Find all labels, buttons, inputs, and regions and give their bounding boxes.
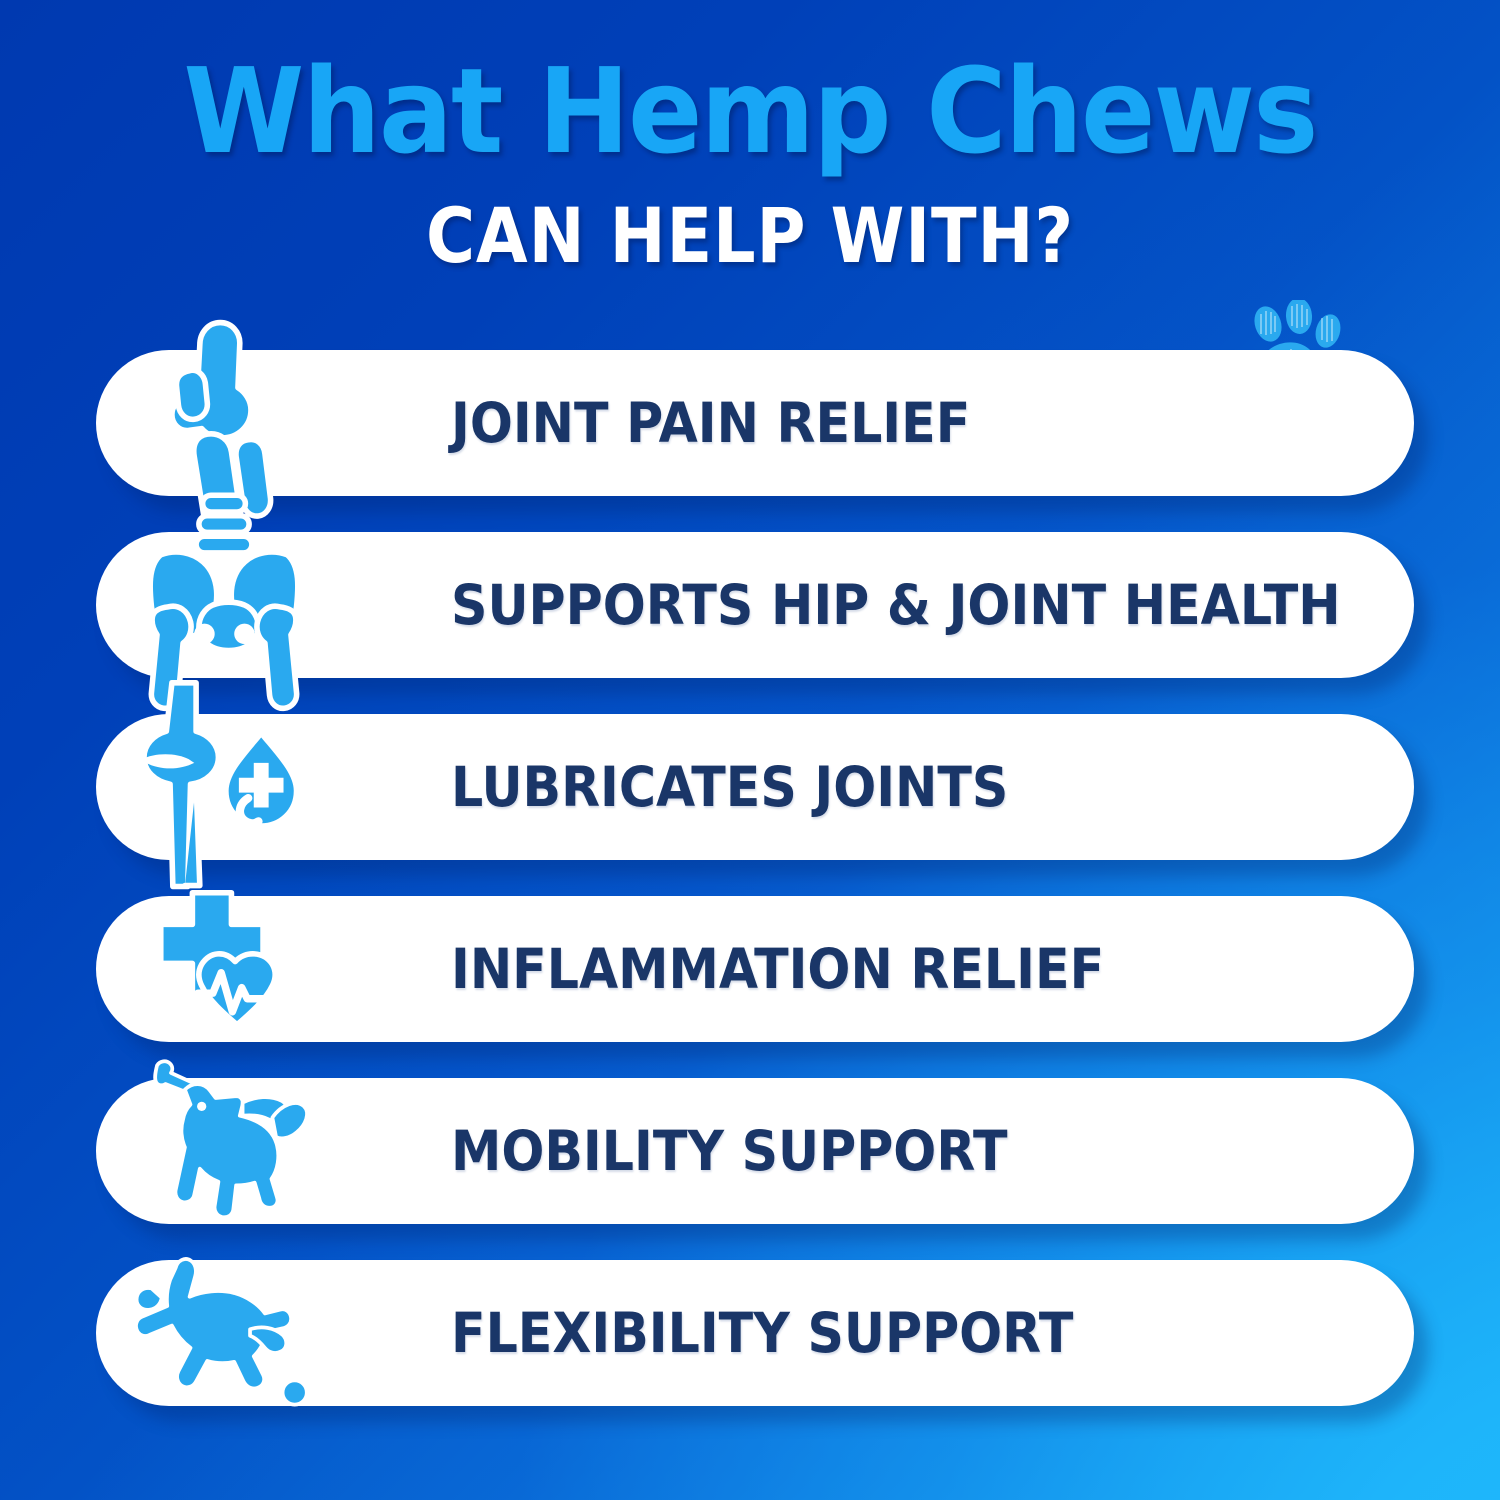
benefit-card-list: JOINT PAIN RELIEF: [0, 0, 1500, 1500]
benefit-card[interactable]: MOBILITY SUPPORT: [96, 1078, 1414, 1224]
benefit-card[interactable]: JOINT PAIN RELIEF: [96, 350, 1414, 496]
benefit-label: JOINT PAIN RELIEF: [451, 391, 970, 455]
benefit-label: INFLAMMATION RELIEF: [451, 937, 1104, 1001]
benefit-label: MOBILITY SUPPORT: [451, 1119, 1008, 1183]
joint-droplet-cross-icon: [124, 694, 324, 880]
benefit-label: SUPPORTS HIP & JOINT HEALTH: [451, 573, 1341, 637]
benefit-card[interactable]: INFLAMMATION RELIEF: [96, 896, 1414, 1042]
dog-standing-bone-icon: [124, 1058, 324, 1244]
infographic-canvas: What Hemp Chews CAN HELP WITH?: [0, 0, 1500, 1500]
benefit-label: LUBRICATES JOINTS: [451, 755, 1008, 819]
benefit-card[interactable]: SUPPORTS HIP & JOINT HEALTH: [96, 532, 1414, 678]
benefit-card[interactable]: FLEXIBILITY SUPPORT: [96, 1260, 1414, 1406]
benefit-label: FLEXIBILITY SUPPORT: [451, 1301, 1073, 1365]
knee-joint-bone-icon: [124, 330, 324, 516]
benefit-card[interactable]: LUBRICATES JOINTS: [96, 714, 1414, 860]
dog-jumping-ball-icon: [124, 1240, 324, 1426]
medical-cross-heart-pulse-icon: [124, 876, 324, 1062]
hip-pelvis-bone-icon: [124, 512, 324, 698]
